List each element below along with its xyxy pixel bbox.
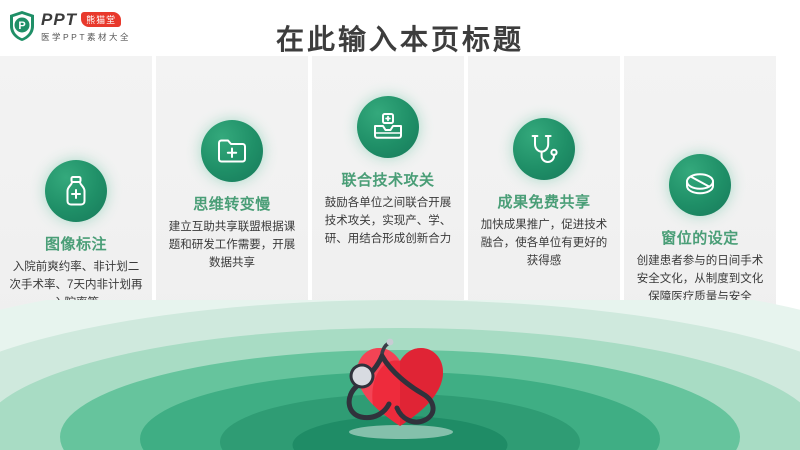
card-body: 创建患者参与的日间手术安全文化，从制度到文化保障医疗质量与安全: [624, 253, 776, 306]
medicine-bottle-icon: [45, 160, 107, 222]
card-title: 成果免费共享: [468, 191, 620, 212]
folder-plus-icon: [201, 120, 263, 182]
heart-with-stethoscope-icon: [305, 314, 495, 444]
card-title: 思维转变慢: [156, 193, 308, 214]
page-title: 在此输入本页标题: [0, 18, 800, 58]
card-title: 联合技术攻关: [312, 169, 464, 190]
feature-card-4[interactable]: 成果免费共享 加快成果推广，促进技术融合，使各单位有更好的获得感: [468, 56, 620, 318]
card-body: 建立互助共享联盟根据课题和研发工作需要，开展数据共享: [156, 219, 308, 272]
hospital-bed-icon: [357, 96, 419, 158]
card-body: 鼓励各单位之间联合开展技术攻关，实现产、学、 研、用结合形成创新合力: [312, 195, 464, 248]
pill-icon: [669, 154, 731, 216]
stethoscope-icon: [513, 118, 575, 180]
feature-card-3[interactable]: 联合技术攻关 鼓励各单位之间联合开展技术攻关，实现产、学、 研、用结合形成创新合…: [312, 56, 464, 318]
card-title: 图像标注: [0, 233, 152, 254]
feature-cards: 图像标注 入院前爽约率、非计划二次手术率、7天内非计划再入院率等 思维转变慢 建…: [0, 56, 800, 318]
card-body: 加快成果推广，促进技术融合，使各单位有更好的获得感: [468, 217, 620, 270]
card-title: 窗位的设定: [624, 227, 776, 248]
feature-card-2[interactable]: 思维转变慢 建立互助共享联盟根据课题和研发工作需要，开展数据共享: [156, 56, 308, 318]
feature-card-1[interactable]: 图像标注 入院前爽约率、非计划二次手术率、7天内非计划再入院率等: [0, 56, 152, 318]
bottom-illustration: [0, 300, 800, 450]
feature-card-5[interactable]: 窗位的设定 创建患者参与的日间手术安全文化，从制度到文化保障医疗质量与安全: [624, 56, 776, 318]
